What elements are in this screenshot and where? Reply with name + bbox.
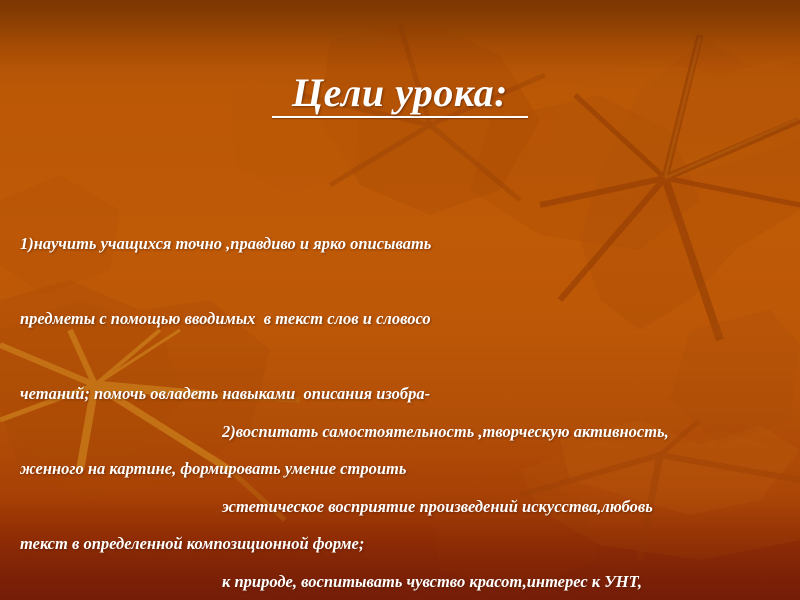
title-underline — [272, 116, 528, 118]
objective-1-line-2: предметы с помощью вводимых в текст слов… — [20, 306, 431, 331]
presentation-slide: Цели урока: 1)научить учащихся точно ,пр… — [0, 0, 800, 600]
slide-content: Цели урока: 1)научить учащихся точно ,пр… — [0, 0, 800, 600]
objective-2-line-1: 2)воспитать самостоятельность ,творческу… — [222, 419, 669, 444]
objective-2-block: 2)воспитать самостоятельность ,творческу… — [222, 369, 669, 600]
objective-1-line-1: 1)научить учащихся точно ,правдиво и ярк… — [20, 231, 431, 256]
page-title-text: Цели урока: — [292, 70, 508, 115]
page-title: Цели урока: — [0, 72, 800, 118]
objective-2-line-2: эстетическое восприятие произведений иск… — [222, 494, 669, 519]
objective-2-line-3: к природе, воспитывать чувство красот,ин… — [222, 569, 669, 594]
